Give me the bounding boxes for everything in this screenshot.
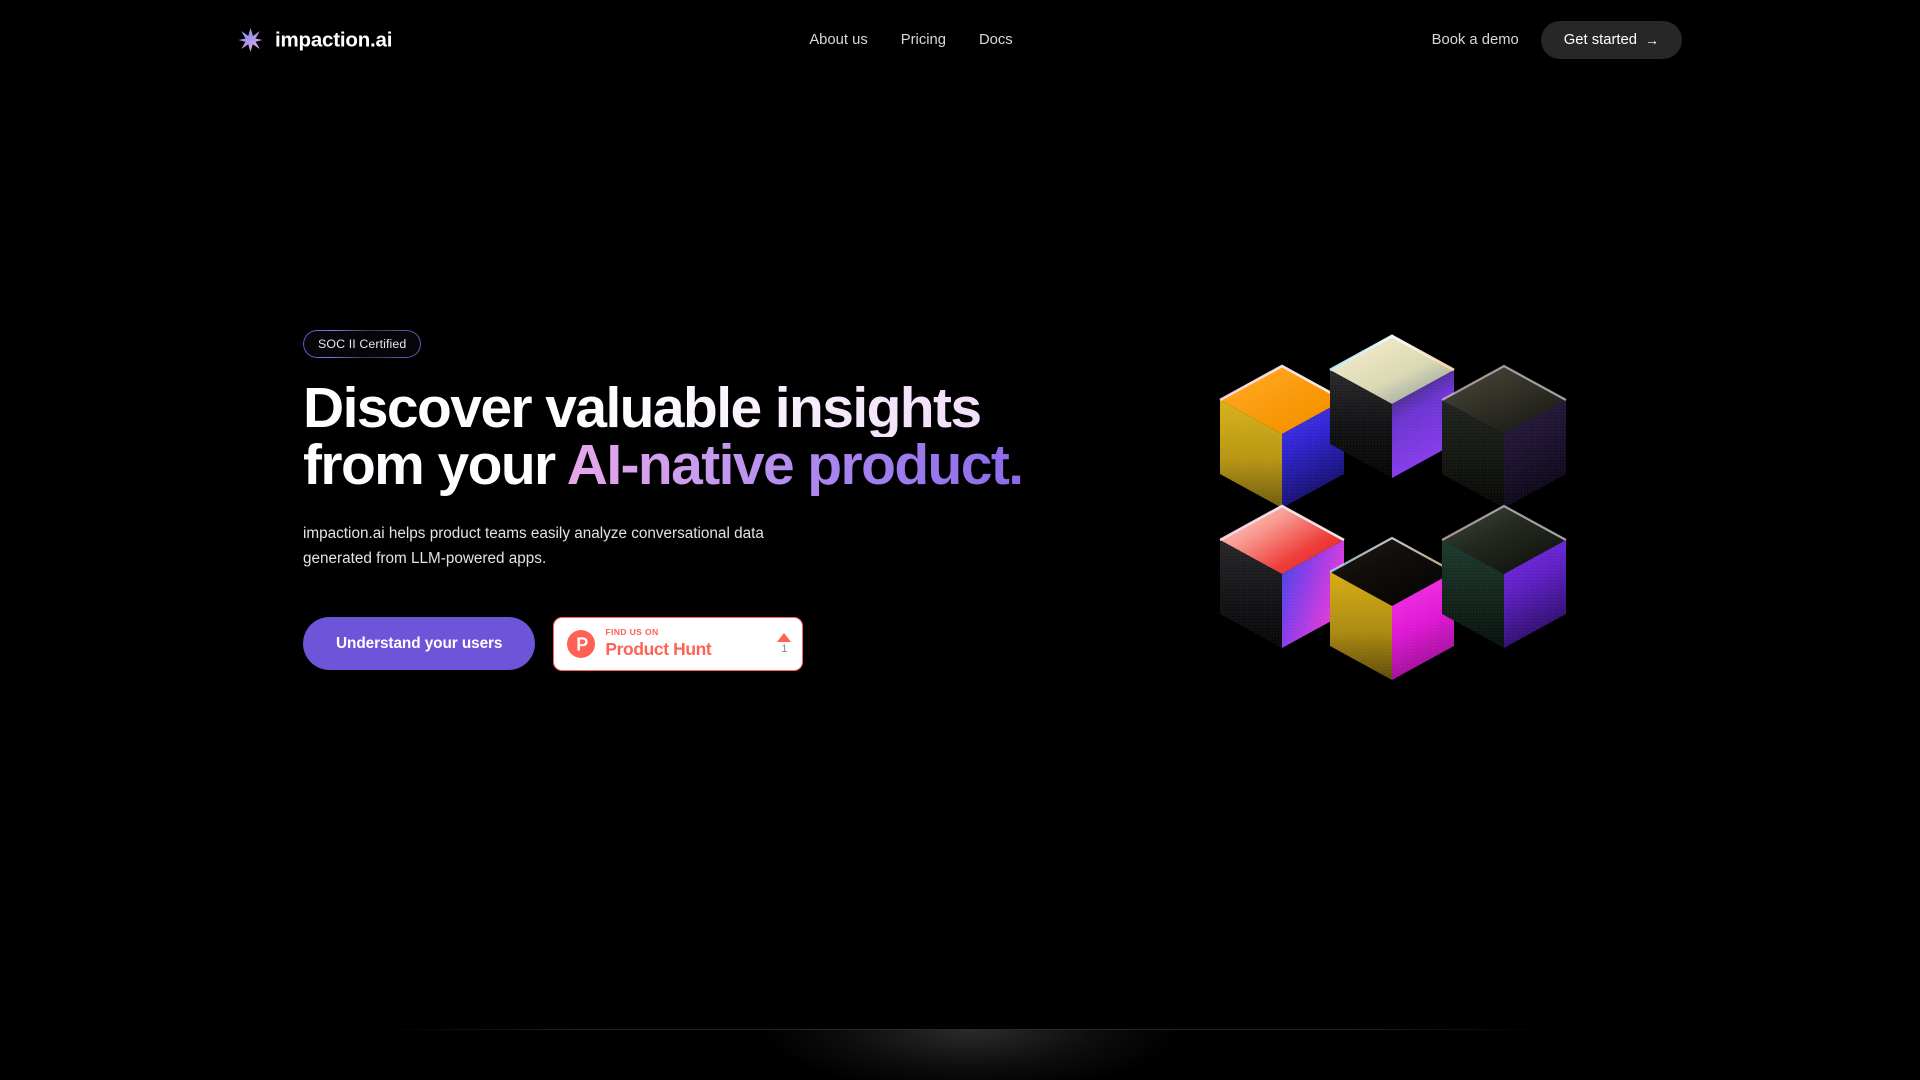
cube-top-right-dark: [1442, 366, 1566, 508]
cube-bottom-center-magenta: [1330, 538, 1454, 680]
understand-your-users-button[interactable]: Understand your users: [303, 617, 535, 670]
headline-line-2: from your AI-native product.: [303, 437, 1123, 494]
get-started-button[interactable]: Get started →: [1541, 21, 1682, 59]
status-badge-soc2: SOC II Certified: [303, 330, 421, 358]
isometric-cubes-illustration: [1180, 290, 1620, 730]
hero-subtitle-line-2: generated from LLM-powered apps.: [303, 547, 843, 572]
product-hunt-text: FIND US ON Product Hunt: [605, 628, 761, 659]
book-a-demo-link[interactable]: Book a demo: [1432, 32, 1519, 48]
arrow-right-icon: →: [1645, 33, 1659, 47]
cube-top-center-silver: [1330, 336, 1454, 478]
status-badge-label: SOC II Certified: [318, 337, 406, 351]
cube-bottom-right-green: [1442, 506, 1566, 648]
bottom-glow: [690, 1030, 1250, 1080]
product-hunt-upvote-count: 1: [781, 644, 787, 655]
product-hunt-kicker: FIND US ON: [605, 628, 761, 638]
product-hunt-badge[interactable]: FIND US ON Product Hunt 1: [553, 617, 803, 671]
hero-subtitle-line-1: impaction.ai helps product teams easily …: [303, 522, 843, 547]
hero-section: SOC II Certified Discover valuable insig…: [303, 330, 1123, 671]
page-title: Discover valuable insights from your AI-…: [303, 380, 1123, 494]
top-navigation-bar: impaction.ai About us Pricing Docs Book …: [0, 0, 1920, 80]
headline-line-2-plain: from your: [303, 433, 567, 497]
get-started-label: Get started: [1564, 32, 1637, 48]
headline-line-2-accent: AI-native product.: [567, 433, 1023, 497]
product-hunt-title: Product Hunt: [605, 639, 761, 659]
upvote-triangle-icon: [777, 633, 791, 642]
nav-link-docs[interactable]: Docs: [979, 32, 1013, 48]
product-hunt-p-icon: [567, 630, 595, 658]
brand-name: impaction.ai: [275, 28, 392, 52]
hero-cta-row: Understand your users FIND US ON Product…: [303, 617, 1123, 671]
eight-point-star-icon: [238, 28, 263, 53]
nav-link-about-us[interactable]: About us: [809, 32, 867, 48]
nav-actions: Book a demo Get started →: [1432, 21, 1682, 59]
cube-bottom-left-pink: [1220, 506, 1344, 648]
landing-page: impaction.ai About us Pricing Docs Book …: [0, 0, 1920, 1080]
brand-logo[interactable]: impaction.ai: [238, 28, 392, 53]
headline-line-1: Discover valuable insights: [303, 380, 1123, 437]
product-hunt-upvotes: 1: [771, 633, 791, 655]
hero-subtitle: impaction.ai helps product teams easily …: [303, 522, 843, 572]
bottom-divider: [375, 1029, 1555, 1030]
cube-top-left-orange: [1220, 366, 1344, 508]
cubes-svg: [1180, 290, 1620, 730]
nav-link-pricing[interactable]: Pricing: [901, 32, 946, 48]
nav-links: About us Pricing Docs: [809, 32, 1012, 48]
